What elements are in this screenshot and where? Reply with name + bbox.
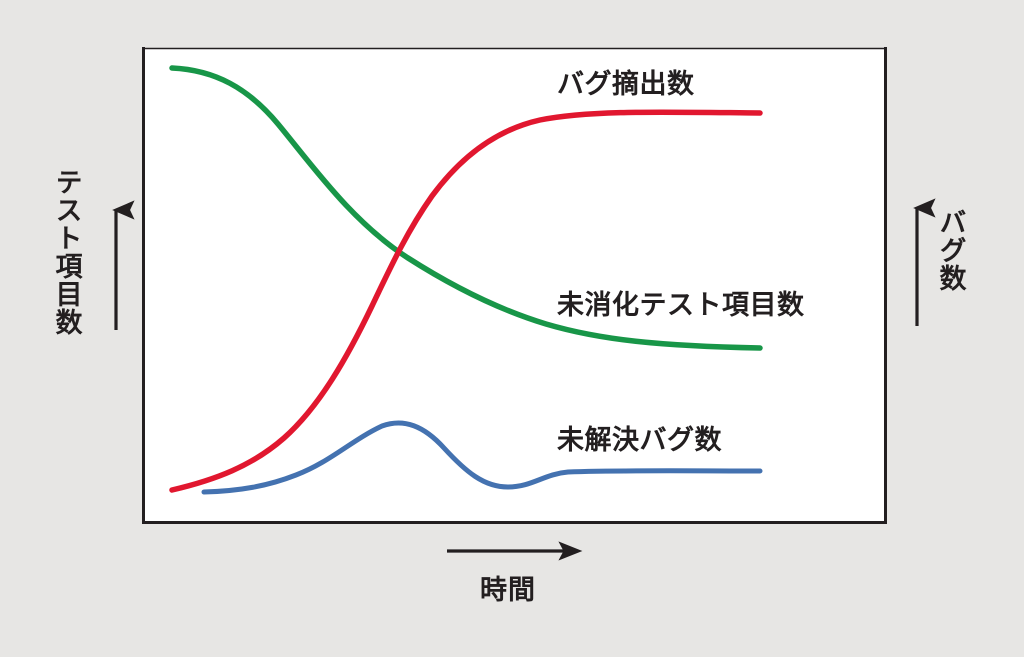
chart-svg	[0, 0, 1024, 657]
series-label-bug-detected: バグ摘出数	[557, 62, 695, 101]
y-axis-right-label: バグ数	[936, 208, 964, 292]
chart-canvas: テスト項目数 バグ数 バグ摘出数 未消化テスト項目数 未解決バグ数 時間	[0, 0, 1024, 657]
y-axis-left-label: テスト項目数	[52, 168, 80, 336]
x-axis-label: 時間	[480, 568, 536, 607]
series-label-remaining-tests: 未消化テスト項目数	[557, 283, 805, 322]
series-label-open-bugs: 未解決バグ数	[557, 418, 722, 457]
